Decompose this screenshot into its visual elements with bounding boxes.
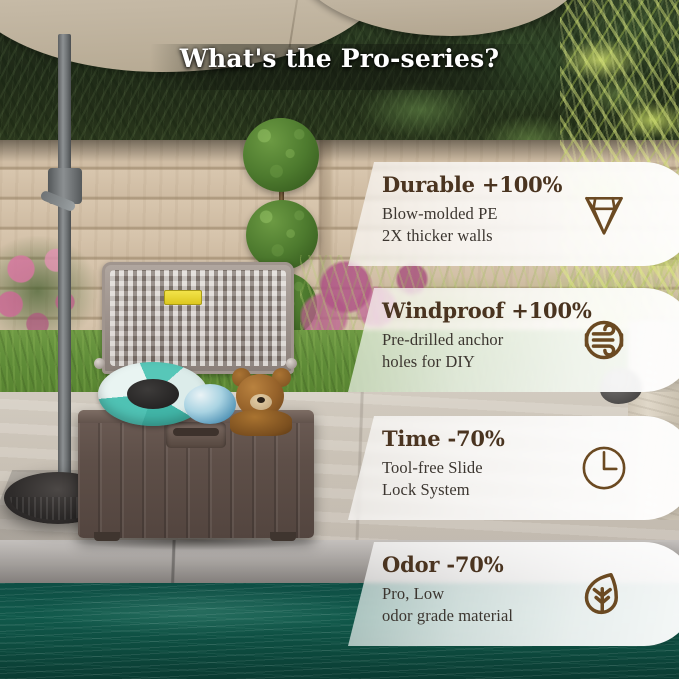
feature-title: Durable +100% [382,174,679,196]
feature-title: Windproof +100% [382,300,679,322]
feature-card-content: Time -70% Tool-free Slide Lock System [382,428,679,520]
diamond-icon [576,186,632,242]
topiary-ball-top [243,118,319,192]
feature-card-content: Durable +100% Blow-molded PE 2X thicker … [382,174,679,266]
feature-card-durable[interactable]: Durable +100% Blow-molded PE 2X thicker … [348,162,679,266]
feature-line-2: Lock System [382,479,679,501]
feature-title: Time -70% [382,428,679,450]
feature-line-2: 2X thicker walls [382,225,679,247]
umbrella-pole [58,34,71,486]
wind-icon [576,312,632,368]
deck-box-handle [166,422,226,448]
feature-card-windproof[interactable]: Windproof +100% Pre-drilled anchor holes… [348,288,679,392]
page-title: What's the Pro-series? [0,44,679,73]
resin-deck-box [78,262,314,540]
deck-box-foot-right [270,532,296,541]
lid-hinge-right [286,358,297,369]
leaf-icon [576,566,632,622]
lid-hinge-left [94,358,105,369]
feature-card-odor[interactable]: Odor -70% Pro, Low odor grade material [348,542,679,646]
feature-line-1: Pre-drilled anchor [382,329,679,351]
feature-card-content: Odor -70% Pro, Low odor grade material [382,554,679,646]
product-feature-graphic: What's the Pro-series? Durable +100% Blo… [0,0,679,679]
teddy-nose [257,397,265,403]
teddy-bear [224,360,296,432]
teddy-body [230,410,292,436]
deck-box-lid [102,262,294,374]
feature-line-1: Tool-free Slide [382,457,679,479]
feature-line-1: Pro, Low [382,583,679,605]
feature-line-2: odor grade material [382,605,679,627]
clock-icon [576,440,632,496]
feature-card-time[interactable]: Time -70% Tool-free Slide Lock System [348,416,679,520]
feature-card-content: Windproof +100% Pre-drilled anchor holes… [382,300,679,392]
deck-box-foot-left [94,532,120,541]
warning-label [164,290,202,305]
feature-title: Odor -70% [382,554,679,576]
feature-line-2: holes for DIY [382,351,679,373]
feature-line-1: Blow-molded PE [382,203,679,225]
